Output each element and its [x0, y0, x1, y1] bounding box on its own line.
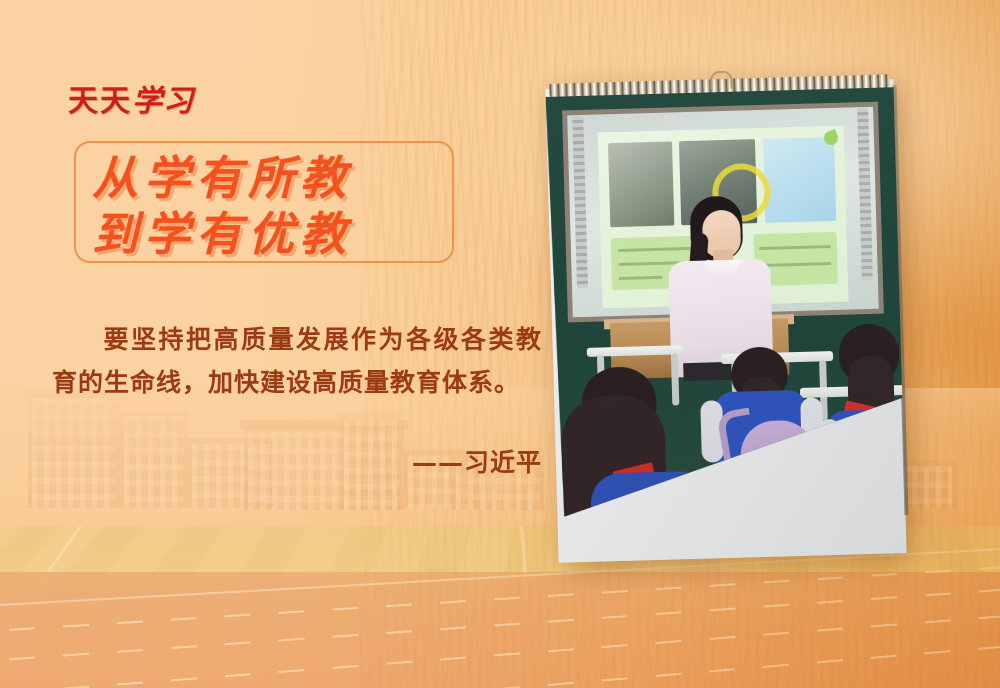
wall-calendar	[545, 79, 906, 563]
brand-logo-part1: 天天	[68, 84, 132, 119]
brand-logo-part2: 学习	[132, 84, 194, 119]
quote-attribution: ——习近平	[52, 443, 542, 479]
brand-logo: 天天学习	[68, 76, 194, 120]
headline-line-1: 从学有所教	[92, 150, 464, 206]
headline: 从学有所教 到学有优教	[92, 150, 464, 262]
quote-text: 要坚持把高质量发展作为各级各类教育的生命线，加快建设高质量教育体系。	[52, 318, 542, 404]
quote-body: 要坚持把高质量发展作为各级各类教育的生命线，加快建设高质量教育体系。	[52, 325, 542, 397]
headline-line-2: 到学有优教	[92, 206, 464, 262]
calendar-hanging-hook-icon	[710, 71, 732, 90]
poster-canvas: 天天学习 从学有所教 到学有优教 要坚持把高质量发展作为各级各类教育的生命线，加…	[0, 0, 1000, 688]
